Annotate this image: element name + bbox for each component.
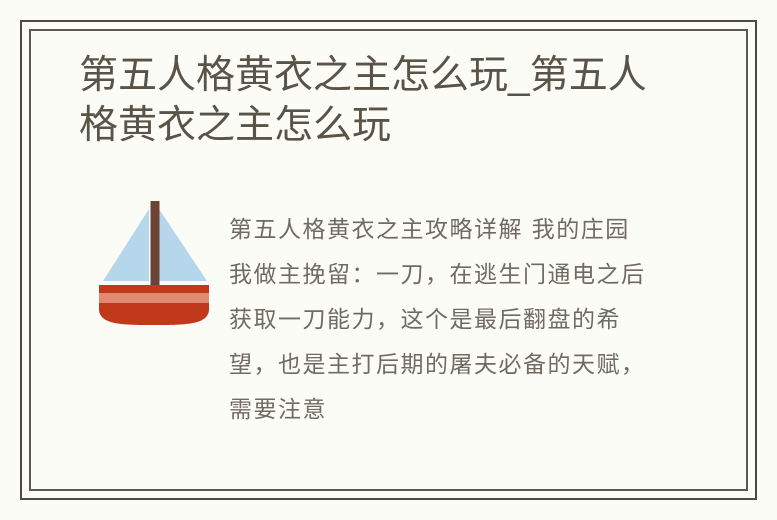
page-title: 第五人格黄衣之主怎么玩_第五人格黄衣之主怎么玩 [55, 51, 687, 151]
card-content: 第五人格黄衣之主怎么玩_第五人格黄衣之主怎么玩 [29, 29, 748, 491]
article-excerpt: 第五人格黄衣之主攻略详解 我的庄园我做主挽留：一刀，在逃生门通电之后获取一刀能力… [229, 202, 649, 433]
sailboat-icon [93, 185, 215, 325]
thumbnail [79, 179, 229, 349]
article-card: 第五人格黄衣之主怎么玩_第五人格黄衣之主怎么玩 [0, 0, 777, 520]
article-body: 第五人格黄衣之主攻略详解 我的庄园我做主挽留：一刀，在逃生门通电之后获取一刀能力… [55, 179, 722, 456]
